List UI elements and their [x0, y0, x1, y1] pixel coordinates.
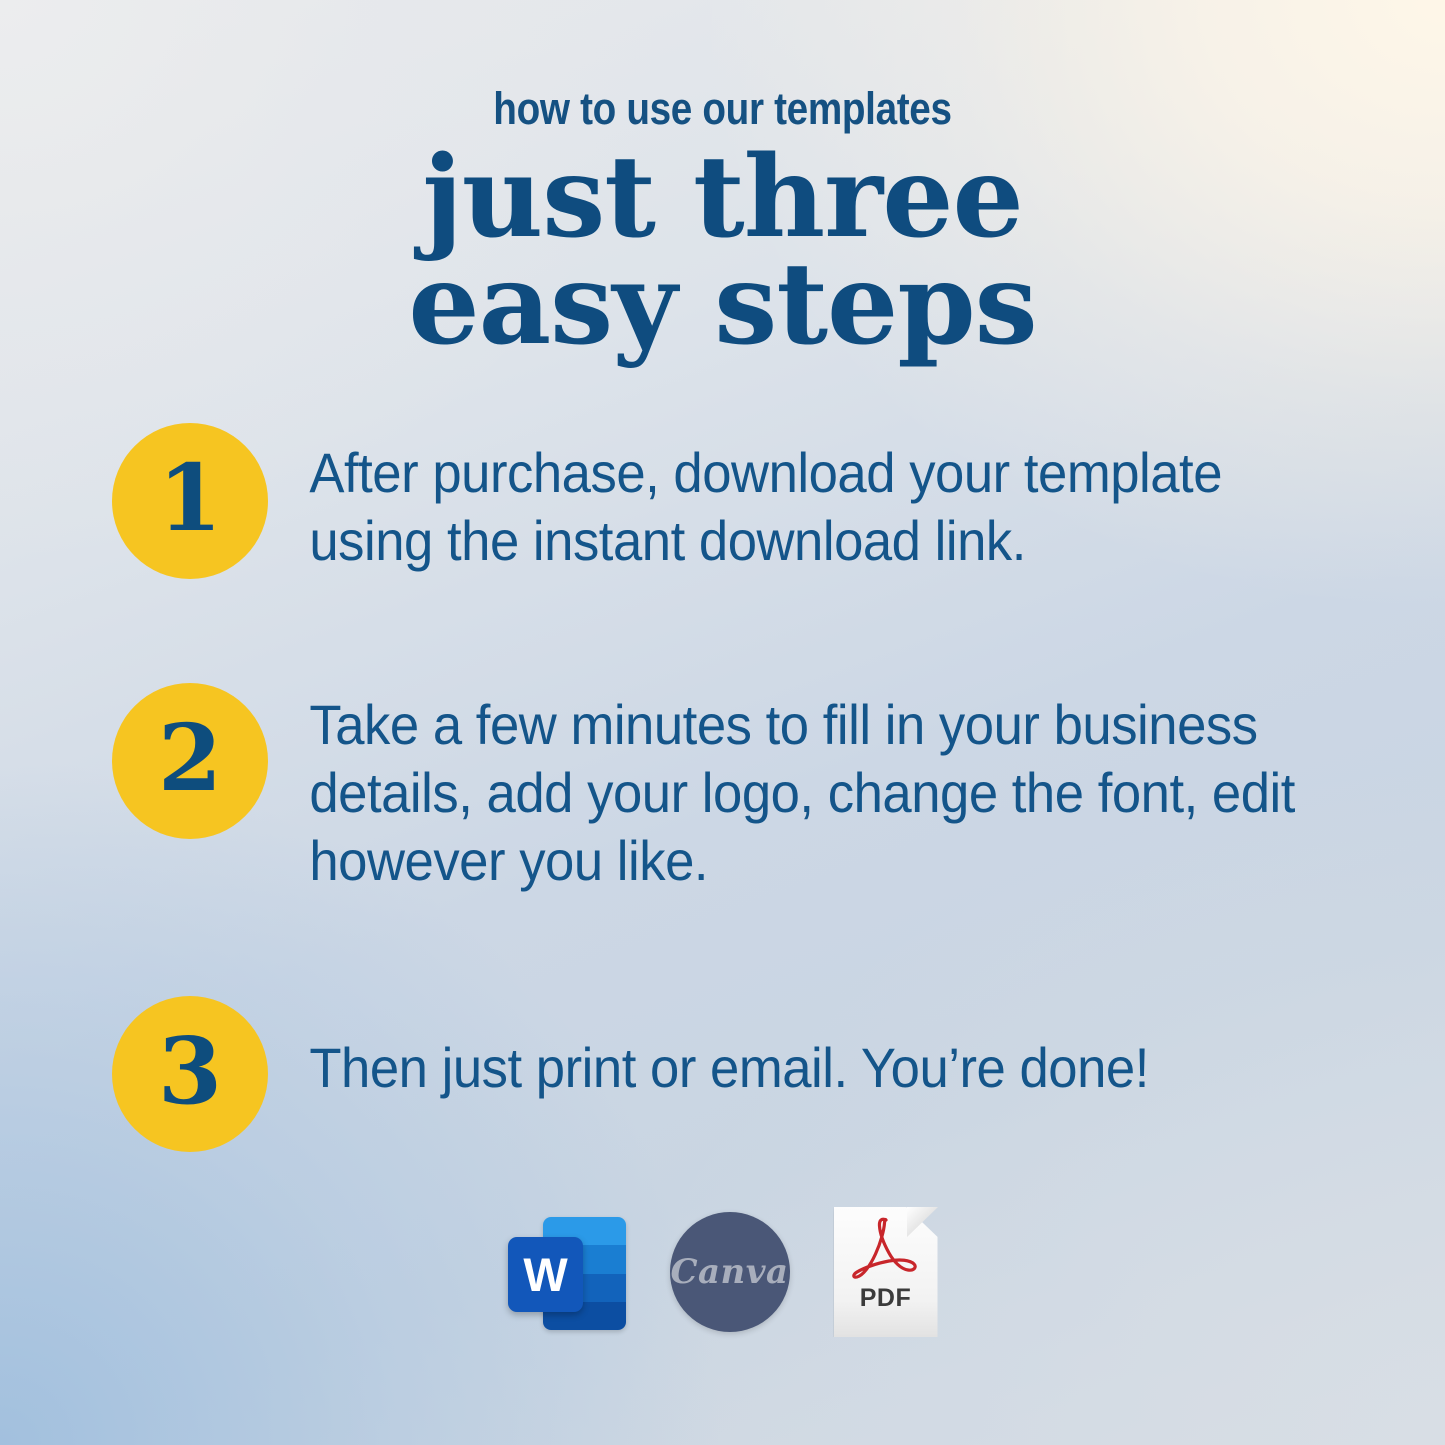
page-title-line-2: easy steps — [0, 250, 1445, 361]
steps-list: 1 After purchase, download your template… — [0, 423, 1445, 1152]
file-format-logos: W Canva PDF — [0, 1207, 1445, 1337]
poster-content: how to use our templates just three easy… — [0, 0, 1445, 1445]
step-item-1: 1 After purchase, download your template… — [0, 423, 1445, 579]
pdf-label: PDF — [834, 1284, 938, 1313]
step-item-2: 2 Take a few minutes to fill in your bus… — [0, 683, 1445, 896]
step-text-2: Take a few minutes to fill in your busin… — [268, 683, 1318, 896]
step-text-1: After purchase, download your template u… — [268, 423, 1318, 576]
step-number-badge-1: 1 — [112, 423, 268, 579]
canva-wordmark: Canva — [670, 1252, 788, 1292]
word-letter-tile: W — [508, 1237, 583, 1312]
pdf-icon: PDF — [834, 1207, 938, 1337]
page-title-line-1: just three — [0, 143, 1445, 254]
step-item-3: 3 Then just print or email. You’re done! — [0, 996, 1445, 1152]
microsoft-word-icon: W — [508, 1209, 626, 1335]
page-eyebrow: how to use our templates — [101, 86, 1344, 131]
step-number-badge-3: 3 — [112, 996, 268, 1152]
word-letter: W — [523, 1251, 566, 1298]
step-text-3: Then just print or email. You’re done! — [268, 996, 1149, 1102]
step-number-badge-2: 2 — [112, 683, 268, 839]
adobe-acrobat-glyph — [844, 1214, 928, 1280]
canva-icon: Canva — [670, 1212, 790, 1332]
header: how to use our templates just three easy… — [0, 0, 1445, 361]
